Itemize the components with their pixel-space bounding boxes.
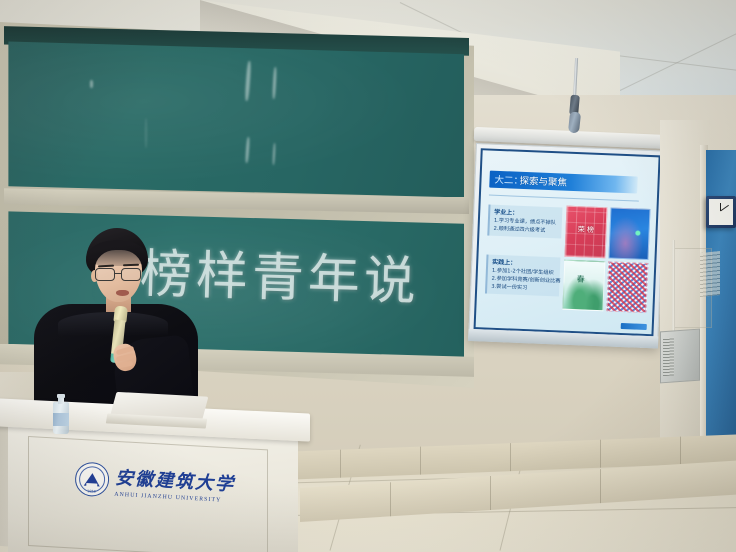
slide-image-caption: 荣 榜 [578,227,595,235]
step-seam [490,476,491,510]
electrical-box-vents [663,337,674,376]
slide-image-blue-photo [608,207,650,259]
electrical-conduit [672,240,675,335]
step-seam [600,440,601,468]
slide-section-practice: 实践上： 1.参加1-2个社团/学生组织 2.参加学科竞赛/创新创业比赛 3.尝… [485,255,561,297]
chalk-smudge [90,80,93,88]
step-seam [510,443,511,471]
step-seam [390,482,391,516]
chalk-smudge [272,143,275,165]
bottle-label [53,413,69,426]
chalk-smudge [272,67,277,99]
bottle-cap [57,394,65,398]
chalk-smudge [245,137,250,163]
presentation-slide: 大二： 探索与聚焦 学业上： 1.学习专业课，绩点不掉队 2.顺利通过四六级考试… [476,150,659,334]
step-seam [420,447,421,475]
step-seam [340,450,341,478]
slide-image-green-landscape: 春 [562,259,604,311]
slide-title-rest: 探索与聚焦 [519,173,567,189]
step-seam [600,469,601,503]
slide-image-caption: 春 [577,274,585,285]
slide-title-underline [489,195,639,202]
slide-section-academics: 学业上： 1.学习专业课，绩点不掉队 2.顺利通过四六级考试 [487,205,562,239]
electrical-box[interactable] [660,329,700,384]
chalk-smudge [244,61,251,101]
university-seal-icon: 1958 [74,461,110,497]
ceiling-grid-line [620,33,736,91]
seal-founding-year: 1958 [87,489,96,493]
laptop[interactable] [106,391,208,432]
blackboard-upper-panel [8,38,464,197]
step-seam [680,437,681,465]
slide-image-grid: 荣 榜 春 [562,206,650,313]
slide-corner-badge [621,323,647,330]
slide-image-red-poster: 荣 榜 [565,206,607,258]
clock-minute-hand [720,205,729,212]
classroom-photo: 榜样青年说 大二： 探索与聚焦 学业上： 1.学习专业课，绩点不掉队 2.顺利通… [0,0,736,552]
water-bottle[interactable] [53,394,69,434]
university-name-block: 安徽建筑大学 ANHUI JIANZHU UNIVERSITY [114,464,236,505]
seal-mountain-gap [86,483,97,488]
university-name-cn: 安徽建筑大学 [115,464,236,497]
projection-screen[interactable]: 大二： 探索与聚焦 学业上： 1.学习专业课，绩点不掉队 2.顺利通过四六级考试… [468,143,666,348]
wall-clock [706,196,736,228]
air-vent-grill [700,251,720,297]
slide-title-bar: 大二： 探索与聚焦 [489,171,638,194]
chalk-smudge [145,118,147,148]
podium-university-branding: 1958 安徽建筑大学 ANHUI JIANZHU UNIVERSITY [74,453,242,512]
slide-image-pixel-collage [606,261,648,313]
clock-face [709,199,733,225]
